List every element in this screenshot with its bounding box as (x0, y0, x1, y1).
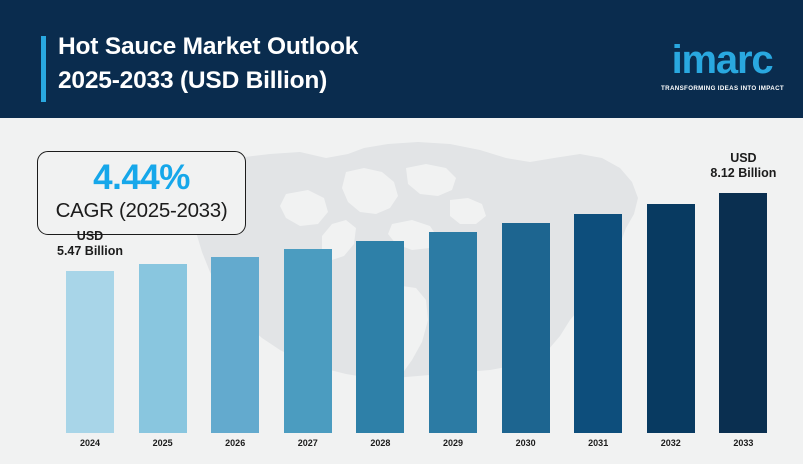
value-callout-first-amount: 5.47 Billion (30, 244, 150, 259)
bar-2033 (719, 193, 767, 433)
x-axis-label-2033: 2033 (708, 437, 778, 449)
bar-2031 (574, 214, 622, 433)
x-axis-label-2030: 2030 (491, 437, 561, 449)
x-axis-label-2032: 2032 (636, 437, 706, 449)
value-callout-first: USD5.47 Billion (30, 229, 150, 259)
x-axis-label-2028: 2028 (345, 437, 415, 449)
x-axis-label-2024: 2024 (55, 437, 125, 449)
bar-2028 (356, 241, 404, 433)
value-callout-first-currency: USD (30, 229, 150, 244)
x-axis-label-2027: 2027 (273, 437, 343, 449)
bar-2030 (502, 223, 550, 433)
bar-2032 (647, 204, 695, 433)
x-axis-label-2029: 2029 (418, 437, 488, 449)
value-callout-last-currency: USD (683, 151, 803, 166)
bar-chart: 2024202520262027202820292030203120322033… (0, 0, 803, 464)
value-callout-last: USD8.12 Billion (683, 151, 803, 181)
bar-2024 (66, 271, 114, 433)
bar-2026 (211, 257, 259, 433)
value-callout-last-amount: 8.12 Billion (683, 166, 803, 181)
bar-2027 (284, 249, 332, 433)
infographic-page: Hot Sauce Market Outlook 2025-2033 (USD … (0, 0, 803, 464)
bar-2025 (139, 264, 187, 433)
bar-2029 (429, 232, 477, 433)
x-axis-label-2026: 2026 (200, 437, 270, 449)
x-axis-label-2031: 2031 (563, 437, 633, 449)
x-axis-label-2025: 2025 (128, 437, 198, 449)
